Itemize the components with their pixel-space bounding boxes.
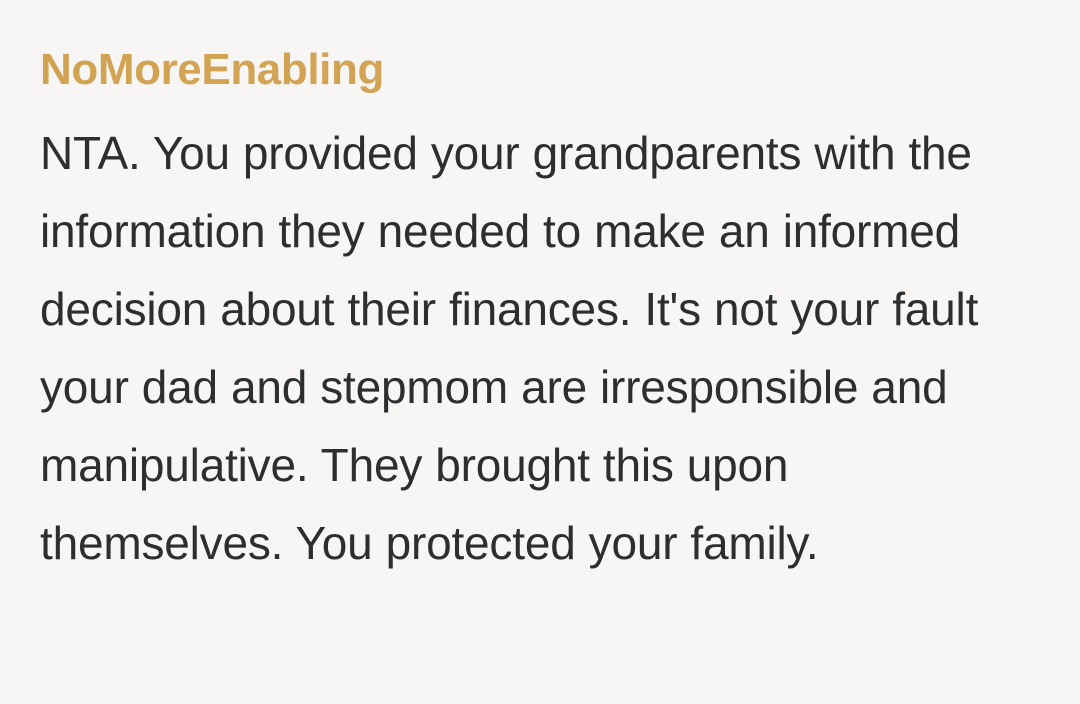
comment-body-text: NTA. You provided your grandparents with…: [40, 92, 1025, 582]
comment-author-username[interactable]: NoMoreEnabling: [40, 0, 1025, 92]
comment-screen: NoMoreEnabling NTA. You provided your gr…: [0, 0, 1080, 704]
comment-container: NoMoreEnabling NTA. You provided your gr…: [40, 0, 1025, 582]
